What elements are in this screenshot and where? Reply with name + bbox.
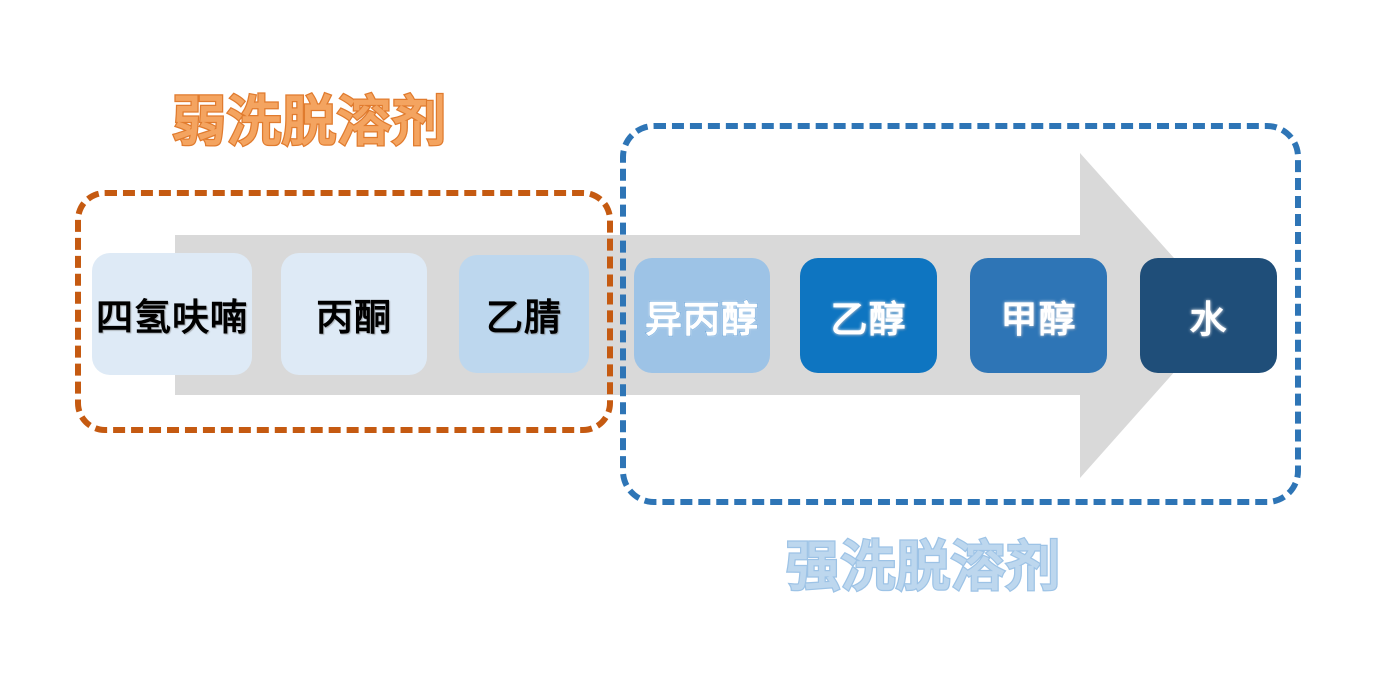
- weak-solvent-group-label: 弱洗脱溶剂: [172, 95, 447, 149]
- solvent-chip-water[interactable]: 水: [1140, 258, 1277, 373]
- solvent-chip-acetonitrile[interactable]: 乙腈: [459, 255, 589, 373]
- diagram-canvas: 弱洗脱溶剂 强洗脱溶剂 四氢呋喃 丙酮 乙腈 异丙醇 乙醇 甲醇 水: [0, 0, 1376, 688]
- solvent-chip-acetone[interactable]: 丙酮: [281, 253, 427, 375]
- strong-solvent-group-label: 强洗脱溶剂: [786, 540, 1061, 594]
- solvent-chip-tetrahydrofuran[interactable]: 四氢呋喃: [92, 253, 252, 375]
- solvent-chip-isopropanol[interactable]: 异丙醇: [634, 258, 770, 373]
- solvent-chip-methanol[interactable]: 甲醇: [970, 258, 1107, 373]
- solvent-chip-ethanol[interactable]: 乙醇: [800, 258, 937, 373]
